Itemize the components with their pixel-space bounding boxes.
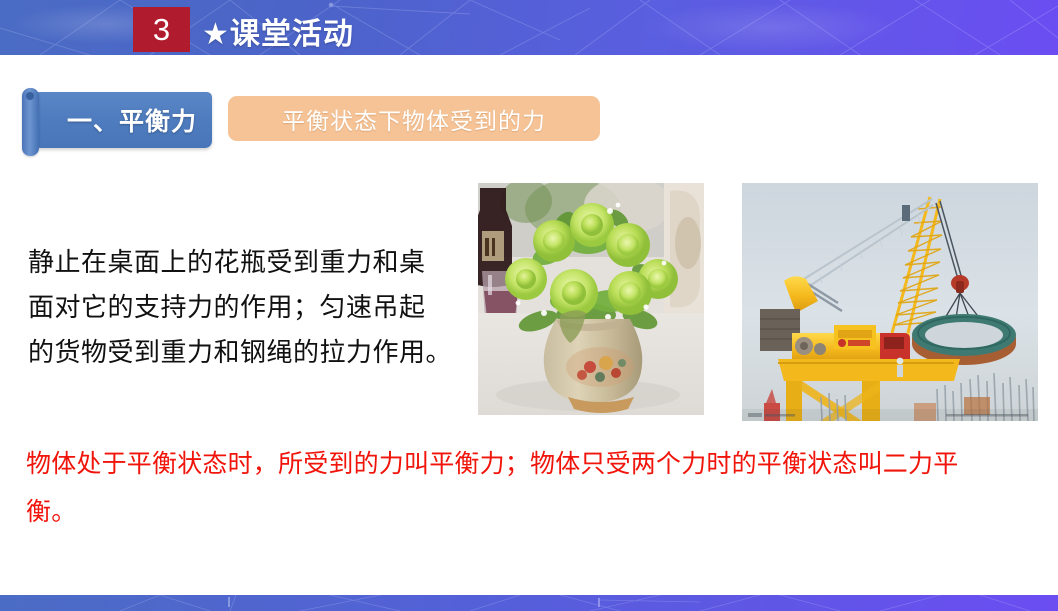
section-banner: 一、平衡力 [22,88,214,156]
slide-footer-bar [0,595,1058,611]
section-number: 3 [153,14,170,45]
footer-polygon-pattern [0,595,1058,611]
conclusion-paragraph: 物体处于平衡状态时，所受到的力叫平衡力；物体只受两个力时的平衡状态叫二力平 衡。 [26,440,1036,536]
conclusion-line-2: 衡。 [26,488,1036,536]
crane-photo [742,183,1038,421]
body-line-1: 静止在桌面上的花瓶受到重力和桌 [28,240,468,285]
section-banner-label: 一、平衡力 [52,92,212,148]
slide-header-bar: 3 ★课堂活动 [0,0,1058,55]
conclusion-line-1: 物体处于平衡状态时，所受到的力叫平衡力；物体只受两个力时的平衡状态叫二力平 [26,440,1036,488]
section-subtitle-label: 平衡状态下物体受到的力 [282,102,546,136]
crane-photo-image [742,183,1038,421]
section-subtitle-pill: 平衡状态下物体受到的力 [228,96,600,141]
body-line-3: 的货物受到重力和钢绳的拉力作用。 [28,330,468,375]
body-line-2: 面对它的支持力的作用；匀速吊起 [28,285,468,330]
vase-photo-image [478,183,704,415]
section-number-box: 3 [133,7,190,52]
body-paragraph: 静止在桌面上的花瓶受到重力和桌 面对它的支持力的作用；匀速吊起 的货物受到重力和… [28,240,468,375]
slide-root: 3 ★课堂活动 一、平衡力 平衡状态下物体受到的力 静止在桌面上的花瓶受到重力和… [0,0,1058,611]
header-title: ★课堂活动 [202,8,354,53]
section-banner-scroll-roll-icon [22,88,39,156]
vase-photo [478,183,704,415]
